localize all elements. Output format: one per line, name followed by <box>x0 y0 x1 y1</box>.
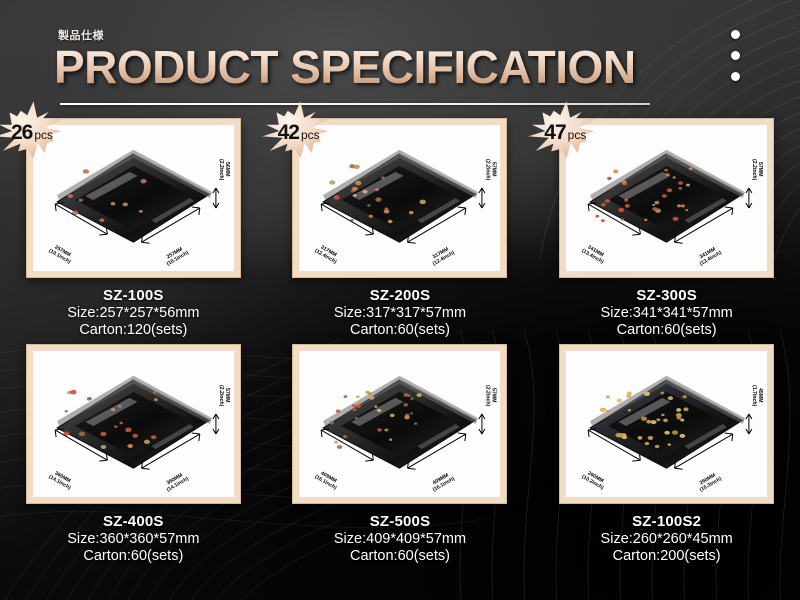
dimension-height-label: 57MM(2.2inch) <box>217 385 229 406</box>
product-carton: Carton:60(sets) <box>334 548 466 564</box>
product-caption: SZ-500SSize:409*409*57mmCarton:60(sets) <box>334 513 466 564</box>
burst-unit: pcs <box>301 128 320 142</box>
height-inch: (2.2inch) <box>484 385 490 406</box>
dimension-height-label: 57MM(2.2inch) <box>484 159 496 180</box>
burst-quantity: 47 <box>544 121 565 144</box>
height-inch: (2.2inch) <box>484 159 490 180</box>
page-title: PRODUCT SPECIFICATION <box>54 44 636 90</box>
burst-unit: pcs <box>34 128 53 142</box>
height-mm: 57MM <box>756 159 762 180</box>
height-inch: (2.2inch) <box>750 159 756 180</box>
quantity-burst-badge: 47pcs <box>525 100 601 162</box>
product-model: SZ-100S <box>67 287 199 304</box>
product-size: Size:360*360*57mm <box>67 531 199 547</box>
dimension-height-label: 57MM(2.2inch) <box>750 159 762 180</box>
slide-canvas: 製品仕様 PRODUCT SPECIFICATION 26pcs257MM(10… <box>0 0 800 600</box>
product-photo: 360MM(14.1inch)360MM(14.1inch)57MM(2.2in… <box>33 351 234 497</box>
product-size: Size:341*341*57mm <box>601 305 733 321</box>
height-inch: (1.7inch) <box>750 385 756 406</box>
product-caption: SZ-300SSize:341*341*57mmCarton:60(sets) <box>601 287 733 338</box>
burst-unit: pcs <box>568 128 587 142</box>
product-model: SZ-100S2 <box>601 513 733 530</box>
product-photo-frame[interactable]: 260MM(10.2inch)260MM(10.2inch)45MM(1.7in… <box>559 344 774 504</box>
product-caption: SZ-100S2Size:260*260*45mmCarton:200(sets… <box>601 513 733 564</box>
product-model: SZ-300S <box>601 287 733 304</box>
decorative-dots <box>731 30 740 81</box>
product-card[interactable]: 47pcs341MM(13.4inch)341MM(13.4inch)57MM(… <box>533 118 800 338</box>
burst-quantity: 26 <box>11 121 32 144</box>
product-grid: 26pcs257MM(10.1inch)257MM(10.1inch)56MM(… <box>0 118 800 564</box>
product-caption: SZ-100SSize:257*257*56mmCarton:120(sets) <box>67 287 199 338</box>
dot-indicator-2 <box>731 51 740 60</box>
dot-indicator-1 <box>731 30 740 39</box>
product-model: SZ-500S <box>334 513 466 530</box>
product-card[interactable]: 42pcs317MM(12.4inch)317MM(12.4inch)57MM(… <box>267 118 534 338</box>
height-inch: (2.2inch) <box>217 159 223 180</box>
dimension-height-label: 56MM(2.2inch) <box>217 159 229 180</box>
product-model: SZ-200S <box>334 287 466 304</box>
product-carton: Carton:60(sets) <box>67 548 199 564</box>
product-model: SZ-400S <box>67 513 199 530</box>
product-carton: Carton:60(sets) <box>601 322 733 338</box>
product-photo: 409MM(16.1inch)409MM(16.1inch)57MM(2.2in… <box>299 351 500 497</box>
product-photo-frame[interactable]: 360MM(14.1inch)360MM(14.1inch)57MM(2.2in… <box>26 344 241 504</box>
dimension-height-label: 57MM(2.2inch) <box>484 385 496 406</box>
product-size: Size:409*409*57mm <box>334 531 466 547</box>
burst-quantity: 42 <box>278 121 299 144</box>
dot-indicator-3 <box>731 72 740 81</box>
product-card[interactable]: 360MM(14.1inch)360MM(14.1inch)57MM(2.2in… <box>0 344 267 564</box>
product-carton: Carton:120(sets) <box>67 322 199 338</box>
product-carton: Carton:60(sets) <box>334 322 466 338</box>
product-carton: Carton:200(sets) <box>601 548 733 564</box>
height-inch: (2.2inch) <box>217 385 223 406</box>
product-photo-frame[interactable]: 409MM(16.1inch)409MM(16.1inch)57MM(2.2in… <box>292 344 507 504</box>
product-size: Size:317*317*57mm <box>334 305 466 321</box>
quantity-burst-badge: 42pcs <box>259 100 335 162</box>
product-caption: SZ-200SSize:317*317*57mmCarton:60(sets) <box>334 287 466 338</box>
product-card[interactable]: 26pcs257MM(10.1inch)257MM(10.1inch)56MM(… <box>0 118 267 338</box>
quantity-burst-badge: 26pcs <box>0 100 68 162</box>
height-mm: 45MM <box>756 385 762 406</box>
product-photo: 260MM(10.2inch)260MM(10.2inch)45MM(1.7in… <box>566 351 767 497</box>
product-size: Size:257*257*56mm <box>67 305 199 321</box>
product-caption: SZ-400SSize:360*360*57mmCarton:60(sets) <box>67 513 199 564</box>
product-size: Size:260*260*45mm <box>601 531 733 547</box>
product-card[interactable]: 409MM(16.1inch)409MM(16.1inch)57MM(2.2in… <box>267 344 534 564</box>
product-card[interactable]: 260MM(10.2inch)260MM(10.2inch)45MM(1.7in… <box>533 344 800 564</box>
dimension-height-label: 45MM(1.7inch) <box>750 385 762 406</box>
